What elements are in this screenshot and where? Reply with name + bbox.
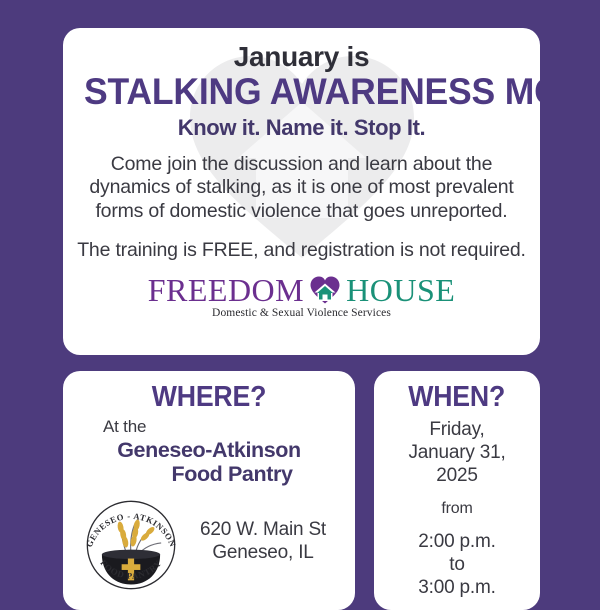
- where-card: WHERE? At the Geneseo-Atkinson Food Pant…: [63, 371, 355, 610]
- where-address-line-1: 620 W. Main St: [185, 519, 341, 541]
- when-time-separator: to: [418, 554, 495, 577]
- where-title: WHERE?: [88, 383, 331, 412]
- where-venue-line-2: Food Pantry: [77, 462, 341, 486]
- logo-word-house: HOUSE: [346, 274, 455, 306]
- heart-house-icon: [309, 275, 341, 305]
- where-venue-line-1: Geneseo-Atkinson: [117, 438, 301, 462]
- main-announcement-card: January is STALKING AWARENESS MONTH Know…: [63, 28, 540, 355]
- eyebrow-heading: January is: [75, 42, 528, 71]
- where-address-line-2: Geneseo, IL: [185, 542, 341, 564]
- when-time-start: 2:00 p.m.: [418, 531, 495, 554]
- where-prefix-label: At the: [77, 418, 341, 437]
- when-from-label: from: [441, 500, 472, 518]
- when-time-end: 3:00 p.m.: [418, 577, 495, 600]
- logo-word-freedom: FREEDOM: [148, 274, 304, 306]
- poster-canvas: January is STALKING AWARENESS MONTH Know…: [0, 0, 600, 600]
- when-title: WHEN?: [409, 383, 506, 412]
- logo-tagline: Domestic & Sexual Violence Services: [212, 308, 391, 320]
- when-date: Friday, January 31, 2025: [408, 419, 505, 487]
- food-pantry-logo-icon: GENESEO - ATKINSON FOOD PANTRY: [79, 493, 183, 597]
- subtitle: Know it. Name it. Stop It.: [75, 116, 528, 140]
- description-paragraph-2: The training is FREE, and registration i…: [75, 239, 528, 263]
- when-date-line-2: January 31,: [408, 442, 505, 465]
- main-card-content: January is STALKING AWARENESS MONTH Know…: [75, 38, 528, 319]
- where-bottom-row: GENESEO - ATKINSON FOOD PANTRY 620 W. Ma…: [77, 490, 341, 600]
- when-date-line-3: 2025: [408, 465, 505, 488]
- freedom-house-logo-row: FREEDOM HOUSE: [148, 274, 456, 306]
- freedom-house-logo: FREEDOM HOUSE Domestic & Sexual Violence…: [75, 274, 528, 320]
- where-venue-name: Geneseo-Atkinson Food Pantry: [77, 438, 341, 486]
- description-paragraph-1: Come join the discussion and learn about…: [75, 153, 528, 224]
- when-times: 2:00 p.m. to 3:00 p.m.: [418, 531, 495, 599]
- page-title: STALKING AWARENESS MONTH: [84, 73, 519, 110]
- when-date-line-1: Friday,: [408, 419, 505, 442]
- when-card: WHEN? Friday, January 31, 2025 from 2:00…: [374, 371, 540, 610]
- where-address: 620 W. Main St Geneseo, IL: [183, 519, 341, 570]
- details-row: WHERE? At the Geneseo-Atkinson Food Pant…: [63, 371, 540, 610]
